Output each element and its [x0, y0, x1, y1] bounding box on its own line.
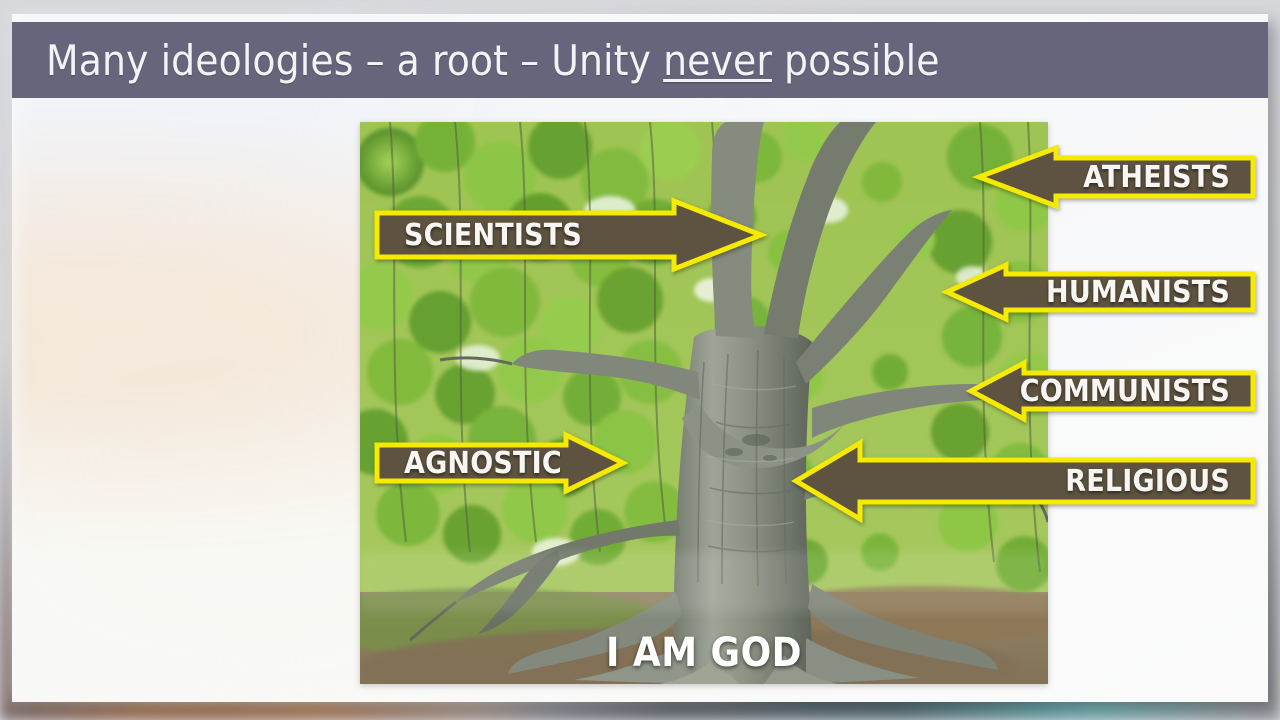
- callout-label-scientists: SCIENTISTS: [404, 198, 582, 272]
- callout-label-communists: COMMUNISTS: [1020, 360, 1230, 422]
- slide-title-bar: Many ideologies – a root – Unity never p…: [12, 22, 1268, 98]
- callout-agnostic[interactable]: AGNOSTIC: [374, 432, 626, 494]
- photo-caption: I AM GOD: [360, 630, 1048, 676]
- callout-communists[interactable]: COMMUNISTS: [968, 360, 1256, 422]
- callout-humanists[interactable]: HUMANISTS: [944, 262, 1256, 322]
- page-title: Many ideologies – a root – Unity never p…: [46, 36, 940, 85]
- callout-label-agnostic: AGNOSTIC: [404, 432, 562, 494]
- callout-atheists[interactable]: ATHEISTS: [976, 145, 1256, 209]
- title-suffix: possible: [772, 36, 940, 85]
- slide-stage: Many ideologies – a root – Unity never p…: [0, 0, 1280, 720]
- title-emphasis: never: [663, 36, 772, 85]
- callout-label-religious: RELIGIOUS: [1065, 440, 1230, 522]
- callout-religious[interactable]: RELIGIOUS: [793, 440, 1256, 522]
- callout-label-humanists: HUMANISTS: [1046, 262, 1230, 322]
- callout-scientists[interactable]: SCIENTISTS: [374, 198, 764, 272]
- callout-label-atheists: ATHEISTS: [1083, 145, 1230, 209]
- title-prefix: Many ideologies – a root – Unity: [46, 36, 663, 85]
